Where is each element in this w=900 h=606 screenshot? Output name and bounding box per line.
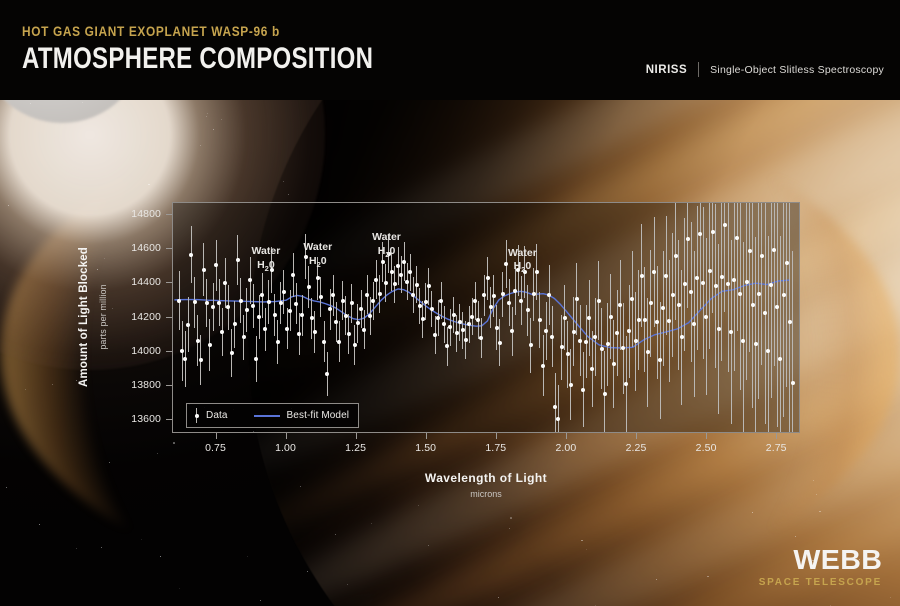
header-band: HOT GAS GIANT EXOPLANET WASP-96 b ATMOSP… xyxy=(0,0,900,100)
data-point xyxy=(365,293,369,297)
error-bar xyxy=(786,203,787,387)
data-point xyxy=(513,289,517,293)
star xyxy=(97,269,98,270)
star xyxy=(207,113,208,114)
star xyxy=(418,505,419,506)
data-point xyxy=(634,339,638,343)
star xyxy=(347,584,348,585)
data-point xyxy=(757,292,761,296)
x-axis-tick-mark xyxy=(426,433,427,439)
data-point xyxy=(180,349,184,353)
star xyxy=(307,571,308,572)
data-point xyxy=(486,276,490,280)
error-bar xyxy=(749,203,750,352)
data-point xyxy=(307,285,311,289)
star xyxy=(52,384,53,385)
data-point xyxy=(760,254,764,258)
data-point xyxy=(788,320,792,324)
visualization-stage: 136001380014000142001440014600148000.751… xyxy=(0,0,900,606)
data-point xyxy=(390,270,394,274)
x-axis-tick-label: 1.00 xyxy=(275,442,296,454)
x-axis-tick-mark xyxy=(216,433,217,439)
star xyxy=(283,181,284,182)
star xyxy=(498,597,499,598)
annotation-formula: H20 xyxy=(303,255,332,270)
data-point xyxy=(254,357,258,361)
data-point xyxy=(572,330,576,334)
data-point xyxy=(689,290,693,294)
data-point xyxy=(711,230,715,234)
legend-label-data: Data xyxy=(206,410,228,421)
error-bar xyxy=(700,203,701,309)
x-axis-tick-label: 2.75 xyxy=(766,442,787,454)
data-point xyxy=(322,340,326,344)
y-axis-tick-label: 13600 xyxy=(131,413,161,425)
x-axis-tick-mark xyxy=(706,433,707,439)
data-point xyxy=(609,315,613,319)
error-bar xyxy=(712,203,713,313)
data-point xyxy=(402,260,406,264)
page-title: ATMOSPHERE COMPOSITION xyxy=(22,44,373,74)
data-point xyxy=(751,303,755,307)
data-point xyxy=(745,280,749,284)
data-point xyxy=(495,326,499,330)
x-axis-tick-label: 1.50 xyxy=(415,442,436,454)
data-point xyxy=(714,284,718,288)
data-point xyxy=(489,305,493,309)
star xyxy=(300,486,301,487)
data-point xyxy=(541,364,545,368)
x-axis-tick-label: 1.25 xyxy=(345,442,366,454)
data-point xyxy=(257,315,261,319)
x-axis-tick-label: 1.75 xyxy=(485,442,506,454)
star xyxy=(160,556,161,557)
error-bar xyxy=(746,203,747,380)
instrument-name: NIRISS xyxy=(646,64,687,76)
data-point xyxy=(692,322,696,326)
star xyxy=(371,523,372,524)
error-bar xyxy=(737,203,738,331)
data-point xyxy=(612,362,616,366)
data-point xyxy=(211,305,215,309)
water-annotation: WaterH20 xyxy=(303,241,332,270)
y-axis-tick-mark xyxy=(166,385,172,386)
error-bar xyxy=(774,203,775,366)
data-point xyxy=(723,223,727,227)
star xyxy=(890,597,891,598)
x-axis-tick-mark xyxy=(776,433,777,439)
error-bar xyxy=(768,236,769,432)
data-point xyxy=(637,318,641,322)
star xyxy=(8,205,9,206)
star xyxy=(76,380,77,381)
data-point xyxy=(313,330,317,334)
y-axis-tick-mark xyxy=(166,419,172,420)
star xyxy=(819,511,821,513)
star xyxy=(335,534,336,535)
star xyxy=(795,536,796,537)
y-axis-tick-label: 14200 xyxy=(131,311,161,323)
data-point xyxy=(763,311,767,315)
error-bar xyxy=(740,203,741,390)
data-point xyxy=(748,249,752,253)
star xyxy=(213,129,214,130)
star xyxy=(247,556,249,558)
data-point xyxy=(282,290,286,294)
data-point xyxy=(288,309,292,313)
x-axis-tick-label: 2.25 xyxy=(626,442,647,454)
star xyxy=(76,548,77,549)
error-bar xyxy=(724,203,725,312)
data-point xyxy=(294,302,298,306)
error-bar-point-icon xyxy=(194,408,199,423)
star xyxy=(221,119,222,120)
star xyxy=(179,588,180,589)
data-point xyxy=(177,299,181,303)
error-bar xyxy=(783,203,784,417)
data-point xyxy=(791,381,795,385)
legend-label-model: Best-fit Model xyxy=(287,410,350,421)
data-point xyxy=(772,248,776,252)
title-group: HOT GAS GIANT EXOPLANET WASP-96 b ATMOSP… xyxy=(22,24,461,74)
spectrum-plot xyxy=(172,202,800,433)
data-point xyxy=(399,273,403,277)
data-point xyxy=(285,327,289,331)
webb-tagline: SPACE TELESCOPE xyxy=(759,578,882,588)
annotation-name: Water xyxy=(372,231,401,245)
data-point xyxy=(735,236,739,240)
error-bar xyxy=(555,373,556,432)
webb-wordmark: WEBB xyxy=(756,546,882,574)
y-axis-tick-mark xyxy=(166,214,172,215)
x-axis-tick-label: 2.50 xyxy=(696,442,717,454)
data-point xyxy=(205,301,209,305)
error-bar xyxy=(780,236,781,433)
error-bar xyxy=(734,203,735,371)
data-point xyxy=(319,295,323,299)
data-point xyxy=(199,358,203,362)
water-annotation: WaterH20 xyxy=(251,245,280,274)
observing-mode: Single-Object Slitless Spectroscopy xyxy=(710,64,884,76)
annotation-name: Water xyxy=(303,241,332,255)
star xyxy=(707,576,709,578)
data-point xyxy=(196,339,200,343)
y-axis-units: parts per million xyxy=(98,284,108,349)
star xyxy=(148,184,150,186)
star xyxy=(510,517,512,519)
star xyxy=(173,442,175,444)
error-bar xyxy=(771,203,772,398)
star xyxy=(581,540,583,542)
star xyxy=(104,258,105,259)
data-point xyxy=(193,300,197,304)
star xyxy=(260,600,261,601)
data-point xyxy=(717,327,721,331)
data-point xyxy=(547,293,551,297)
star xyxy=(509,528,510,529)
data-point xyxy=(785,261,789,265)
data-point xyxy=(643,318,647,322)
star xyxy=(206,116,207,117)
annotation-formula: H20 xyxy=(251,259,280,274)
x-axis-tick-mark xyxy=(636,433,637,439)
x-axis-tick-mark xyxy=(566,433,567,439)
x-axis-tick-mark xyxy=(356,433,357,439)
data-point xyxy=(452,313,456,317)
star xyxy=(101,547,102,548)
data-point xyxy=(341,299,345,303)
x-axis-tick-mark xyxy=(496,433,497,439)
data-point xyxy=(603,392,607,396)
star xyxy=(39,524,40,525)
star xyxy=(586,549,587,550)
data-point xyxy=(424,300,428,304)
data-point xyxy=(273,313,277,317)
y-axis-tick-label: 14400 xyxy=(131,276,161,288)
data-point xyxy=(344,314,348,318)
y-axis-tick-mark xyxy=(166,351,172,352)
y-axis-tick-label: 14800 xyxy=(131,208,161,220)
data-point xyxy=(584,340,588,344)
y-axis-tick-label: 14000 xyxy=(131,345,161,357)
webb-logo: WEBB SPACE TELESCOPE xyxy=(759,546,882,588)
data-point xyxy=(538,318,542,322)
data-point xyxy=(498,341,502,345)
data-point xyxy=(359,307,363,311)
y-axis-tick-mark xyxy=(166,317,172,318)
y-axis-tick-label: 13800 xyxy=(131,379,161,391)
water-annotation: WaterH20 xyxy=(508,247,537,276)
data-point xyxy=(439,299,443,303)
y-axis-title: Amount of Light Blocked xyxy=(78,247,90,387)
x-axis-tick-mark xyxy=(286,433,287,439)
data-point xyxy=(415,283,419,287)
data-point xyxy=(686,237,690,241)
annotation-formula: H20 xyxy=(508,260,537,275)
subject-kicker: HOT GAS GIANT EXOPLANET WASP-96 b xyxy=(22,24,408,39)
data-point xyxy=(279,301,283,305)
error-bar xyxy=(758,203,759,399)
data-point xyxy=(384,281,388,285)
error-bar xyxy=(675,203,676,320)
data-point xyxy=(569,383,573,387)
data-point xyxy=(492,294,496,298)
data-point xyxy=(230,351,234,355)
data-point xyxy=(236,258,240,262)
star xyxy=(157,453,158,454)
data-point xyxy=(674,254,678,258)
data-point xyxy=(217,301,221,305)
data-point xyxy=(347,332,351,336)
data-point xyxy=(470,315,474,319)
star xyxy=(656,579,657,580)
annotation-name: Water xyxy=(251,245,280,259)
data-point xyxy=(597,299,601,303)
x-axis-tick-label: 0.75 xyxy=(205,442,226,454)
star xyxy=(30,103,31,104)
error-bar xyxy=(777,203,778,427)
error-bar xyxy=(728,203,729,372)
error-bar xyxy=(789,203,790,432)
data-point xyxy=(563,316,567,320)
data-point xyxy=(208,343,212,347)
legend-item-model: Best-fit Model xyxy=(254,410,350,421)
star xyxy=(6,487,7,488)
data-point xyxy=(769,283,773,287)
y-axis-tick-label: 14600 xyxy=(131,242,161,254)
error-bar xyxy=(709,203,710,349)
data-point xyxy=(615,331,619,335)
data-point xyxy=(353,343,357,347)
x-axis-units: microns xyxy=(470,489,502,499)
error-bar xyxy=(761,203,762,365)
data-point xyxy=(754,342,758,346)
data-point xyxy=(726,282,730,286)
data-point xyxy=(507,301,511,305)
data-point xyxy=(575,297,579,301)
data-point xyxy=(600,347,604,351)
star xyxy=(112,308,113,309)
data-point xyxy=(652,270,656,274)
data-point xyxy=(782,293,786,297)
divider xyxy=(698,62,699,77)
star xyxy=(109,462,110,463)
data-point xyxy=(202,268,206,272)
x-axis-title: Wavelength of Light xyxy=(425,471,547,485)
data-point xyxy=(664,274,668,278)
error-bar xyxy=(792,251,793,432)
y-axis-tick-mark xyxy=(166,248,172,249)
error-bar xyxy=(755,237,756,432)
data-point xyxy=(239,299,243,303)
star xyxy=(82,102,83,103)
data-point xyxy=(566,352,570,356)
data-point xyxy=(578,339,582,343)
line-swatch-icon xyxy=(254,415,280,417)
legend-item-data: Data xyxy=(194,408,228,423)
star xyxy=(752,512,753,513)
data-point xyxy=(378,292,382,296)
star xyxy=(428,545,429,546)
x-axis-tick-label: 2.00 xyxy=(555,442,576,454)
star xyxy=(141,539,142,540)
data-point xyxy=(381,260,385,264)
error-bar xyxy=(721,203,722,361)
annotation-name: Water xyxy=(508,247,537,261)
star xyxy=(25,389,26,390)
data-point xyxy=(581,388,585,392)
star xyxy=(200,145,201,146)
water-annotation: WaterH20 xyxy=(372,231,401,260)
data-point xyxy=(640,274,644,278)
error-bar xyxy=(558,385,559,432)
star xyxy=(288,194,289,195)
instrument-credit: NIRISS Single-Object Slitless Spectrosco… xyxy=(646,62,884,77)
data-point xyxy=(276,340,280,344)
star xyxy=(813,480,814,481)
star xyxy=(816,494,818,496)
error-bar xyxy=(743,242,744,432)
plot-data-layer xyxy=(173,203,799,432)
data-point xyxy=(267,300,271,304)
annotation-formula: H20 xyxy=(372,245,401,260)
chart-legend: Data Best-fit Model xyxy=(186,403,359,428)
y-axis-tick-mark xyxy=(166,282,172,283)
